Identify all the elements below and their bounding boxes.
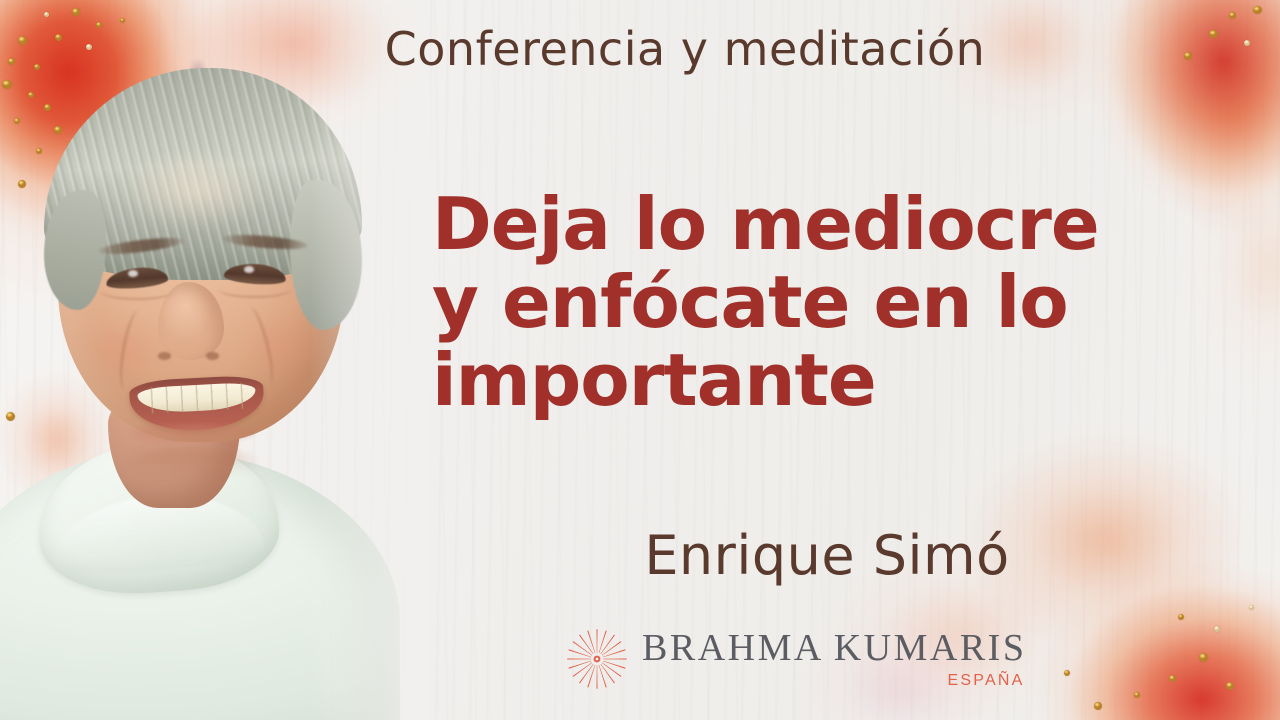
gold-speck bbox=[1178, 614, 1184, 620]
main-title-line-3: importante bbox=[432, 342, 1222, 420]
speaker-name: Enrique Simó bbox=[432, 524, 1222, 587]
sunburst-icon bbox=[566, 628, 628, 690]
presentation-slide: Conferencia y meditación Deja lo mediocr… bbox=[0, 0, 1280, 720]
gold-speck bbox=[1064, 670, 1070, 676]
gold-speck bbox=[1169, 675, 1176, 682]
main-title: Deja lo mediocre y enfócate en lo import… bbox=[432, 186, 1222, 419]
logo-wordmark: BRAHMA KUMARIS ESPAÑA bbox=[642, 629, 1026, 690]
logo-word: BRAHMA KUMARIS bbox=[642, 629, 1026, 667]
speaker-portrait bbox=[0, 0, 430, 720]
logo-subtitle: ESPAÑA bbox=[948, 672, 1025, 690]
brahma-kumaris-logo: BRAHMA KUMARIS ESPAÑA bbox=[566, 628, 1026, 690]
portrait-edge-fade bbox=[0, 0, 430, 720]
gold-speck bbox=[1134, 692, 1140, 698]
gold-speck bbox=[1214, 626, 1220, 632]
gold-speck bbox=[1229, 12, 1236, 19]
gold-speck bbox=[1253, 6, 1262, 14]
gold-speck bbox=[1094, 702, 1102, 710]
gold-speck bbox=[1226, 682, 1234, 690]
main-title-line-2: y enfócate en lo bbox=[432, 264, 1222, 342]
gold-speck bbox=[1249, 605, 1254, 610]
page-title: Conferencia y meditación bbox=[0, 22, 1280, 76]
gold-speck bbox=[1199, 653, 1208, 662]
main-title-line-1: Deja lo mediocre bbox=[432, 186, 1222, 264]
